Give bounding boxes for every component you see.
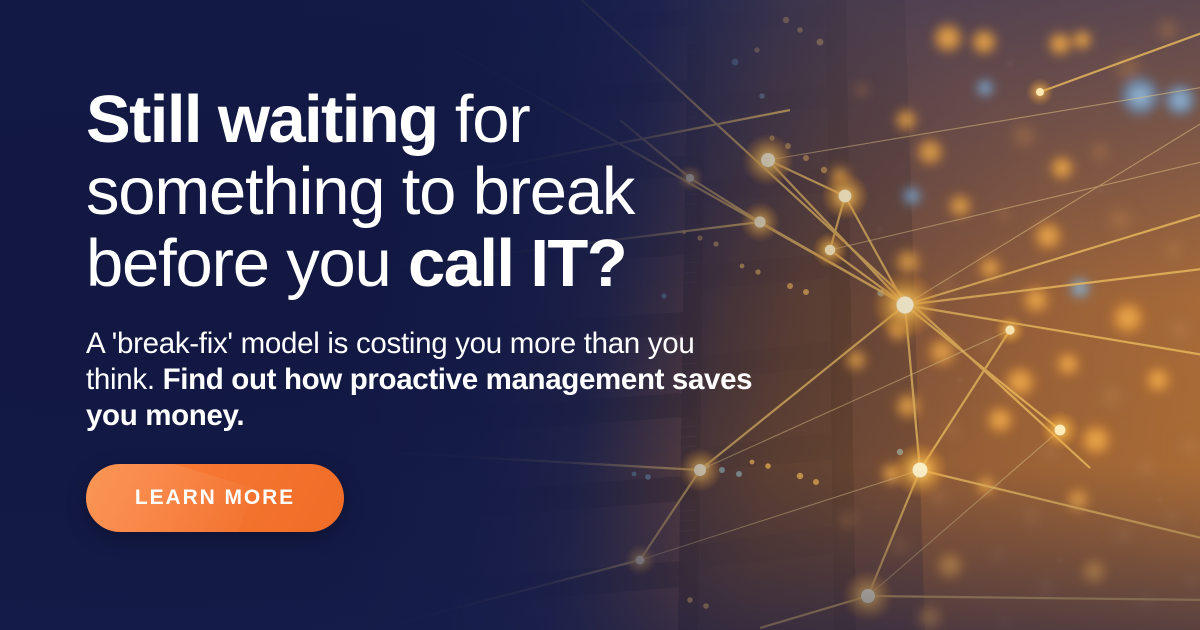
headline-line-2-light: something to break xyxy=(86,154,634,229)
headline-line-1-light: for xyxy=(437,82,529,157)
headline-line-1-strong: Still waiting xyxy=(86,82,437,157)
subheadline: A 'break-fix' model is costing you more … xyxy=(86,326,766,434)
headline-line-1: Still waiting for xyxy=(86,84,786,156)
banner-content: Still waiting for something to break bef… xyxy=(86,0,786,630)
promo-banner: Still waiting for something to break bef… xyxy=(0,0,1200,630)
headline: Still waiting for something to break bef… xyxy=(86,84,786,300)
headline-line-3: before you call IT? xyxy=(86,228,786,300)
headline-line-2: something to break xyxy=(86,156,786,228)
headline-line-3-strong: call IT? xyxy=(408,226,626,301)
learn-more-label: LEARN MORE xyxy=(135,486,295,510)
headline-line-3-light: before you xyxy=(86,226,408,301)
subheadline-strong: Find out how proactive management saves … xyxy=(86,363,752,432)
learn-more-button[interactable]: LEARN MORE xyxy=(86,464,344,532)
